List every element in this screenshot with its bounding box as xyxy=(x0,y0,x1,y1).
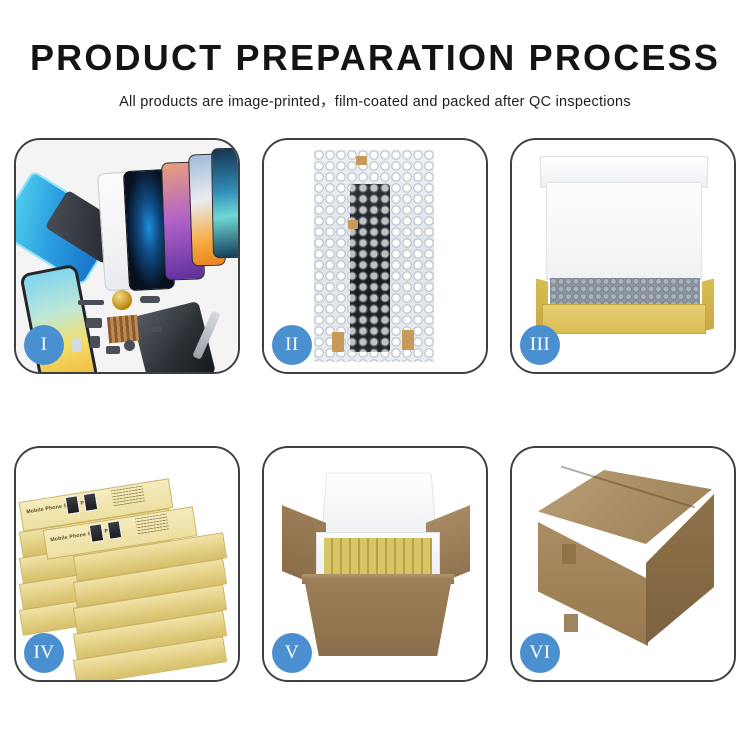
carton-tape-lower xyxy=(564,614,578,632)
step-badge-1: I xyxy=(24,325,64,365)
white-foam-sheet xyxy=(546,182,702,280)
carton-front-face xyxy=(538,522,648,646)
camera-part xyxy=(90,336,100,348)
page-title: PRODUCT PREPARATION PROCESS xyxy=(0,40,750,76)
teal-phone-display xyxy=(211,148,238,259)
step-card-5[interactable]: V xyxy=(262,446,488,682)
box-phone-image xyxy=(83,492,99,512)
yellow-box-front xyxy=(542,304,706,334)
speaker-component xyxy=(112,290,132,310)
step-card-3[interactable]: III xyxy=(510,138,736,374)
step-badge-5: V xyxy=(272,633,312,673)
tape-piece-middle xyxy=(348,220,358,229)
antenna-part xyxy=(140,326,162,332)
step-badge-3: III xyxy=(520,325,560,365)
step-badge-6: VI xyxy=(520,633,560,673)
tape-piece-bottom-left xyxy=(332,332,344,352)
box-phone-image xyxy=(65,495,81,515)
box-phone-image xyxy=(89,523,105,543)
step-card-1[interactable]: I xyxy=(14,138,240,374)
step-card-6[interactable]: VI xyxy=(510,446,736,682)
tape-piece-top xyxy=(356,156,367,165)
yellow-boxes-inside xyxy=(324,538,432,576)
flex-cable-part xyxy=(78,300,104,305)
foam-box-lid xyxy=(321,473,436,537)
product-preparation-infographic: PRODUCT PREPARATION PROCESS All products… xyxy=(0,0,750,750)
button-part xyxy=(106,346,120,354)
carton-body xyxy=(304,578,452,656)
vibrator-part xyxy=(124,340,135,351)
tape-piece-bottom-right xyxy=(402,330,414,350)
steps-grid: I II III xyxy=(14,138,736,683)
sim-tray-part xyxy=(72,338,81,352)
logic-board-component xyxy=(107,315,139,344)
bubble-wrap-overlay xyxy=(314,150,434,362)
header: PRODUCT PREPARATION PROCESS All products… xyxy=(0,0,750,111)
carton-tape-upper xyxy=(562,544,576,564)
step-card-2[interactable]: II xyxy=(262,138,488,374)
connector-part xyxy=(140,296,160,303)
bracket-part xyxy=(86,318,102,328)
box-phone-image xyxy=(107,520,123,540)
page-subtitle: All products are image-printed，film-coat… xyxy=(0,90,750,111)
bubble-wrapped-contents xyxy=(550,278,700,306)
step-card-4[interactable]: Mobile Phone Spare Parts Mobile Phone Sp… xyxy=(14,446,240,682)
step-badge-2: II xyxy=(272,325,312,365)
step-badge-4: IV xyxy=(24,633,64,673)
